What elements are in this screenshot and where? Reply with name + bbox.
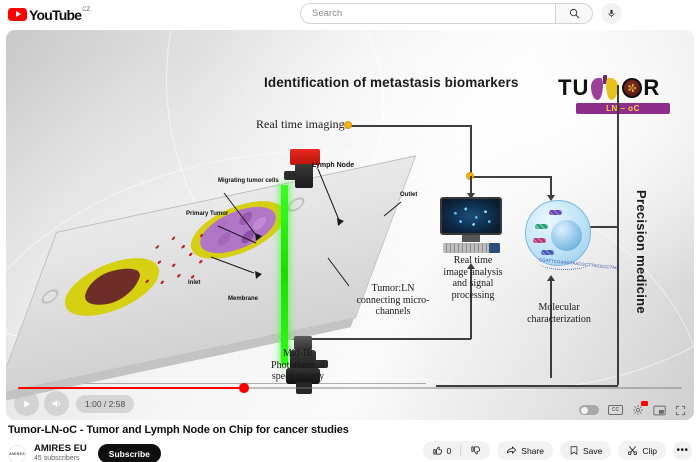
youtube-logo-country: CZ <box>82 7 90 13</box>
subtitles-button[interactable]: CC <box>608 405 623 415</box>
cell-illustration: CGATTCGAAGTAACGCTTAGGCCTAG <box>525 200 591 266</box>
fullscreen-icon <box>675 405 686 416</box>
video-frame: Identification of metastasis biomarkers … <box>6 30 694 420</box>
label-outlet: Outlet <box>400 192 417 198</box>
computer-monitor-icon <box>440 197 502 253</box>
share-icon <box>506 445 517 456</box>
microfluidic-chip-illustration <box>26 170 426 370</box>
connector-line <box>470 125 472 173</box>
label-migrating-tumor-cells: Migrating tumor cells <box>218 178 279 184</box>
label-primary-tumor: Primary Tumor <box>186 211 228 217</box>
youtube-logo-text: YouTube <box>29 7 81 23</box>
channel-name[interactable]: AMIRES EU <box>34 443 87 454</box>
search-area <box>300 3 622 24</box>
laser-beam <box>281 185 288 365</box>
logo-letters-right: R <box>643 75 660 101</box>
chip-base <box>6 155 416 394</box>
share-label: Share <box>521 446 544 456</box>
youtube-logo[interactable]: YouTube CZ <box>8 6 90 23</box>
connector-line <box>550 280 552 378</box>
label-image-analysis: Real time image analysis and signal proc… <box>431 255 515 301</box>
subscribe-button[interactable]: Subscribe <box>98 444 161 462</box>
youtube-watch-page: YouTube CZ <box>0 0 700 462</box>
miniplayer-icon <box>653 405 666 416</box>
channel-row: AMIRES AMIRES EU 45 subscribers Subscrib… <box>8 443 692 462</box>
channel-info: AMIRES EU 45 subscribers <box>34 443 87 462</box>
search-icon <box>569 8 580 19</box>
precision-medicine-label: Precision medicine <box>634 190 649 314</box>
microphone-icon <box>607 8 616 19</box>
like-count: 0 <box>447 446 452 456</box>
miniplayer-button[interactable] <box>653 405 666 416</box>
volume-icon <box>51 398 62 409</box>
connector-dot <box>344 121 352 129</box>
save-label: Save <box>583 446 602 456</box>
channel-avatar[interactable]: AMIRES <box>8 445 26 462</box>
clip-button[interactable]: Clip <box>618 441 666 460</box>
camera-arm <box>284 171 298 180</box>
play-icon <box>22 399 31 409</box>
connector-line <box>617 85 619 385</box>
settings-new-badge <box>641 401 648 406</box>
connector-line <box>470 176 550 178</box>
action-buttons: 0 Share <box>423 441 692 460</box>
label-inlet: Inlet <box>188 280 200 286</box>
bookmark-icon <box>569 445 579 456</box>
save-button[interactable]: Save <box>560 441 611 460</box>
label-real-time-imaging: Real time imaging <box>256 118 345 132</box>
progress-knob[interactable] <box>239 383 249 393</box>
thumbs-down-icon <box>470 445 481 456</box>
youtube-play-icon <box>8 8 27 22</box>
cell-circle-icon <box>622 78 642 98</box>
fullscreen-button[interactable] <box>675 405 686 416</box>
search-button[interactable] <box>555 3 593 24</box>
more-actions-button[interactable]: ••• <box>673 441 692 460</box>
like-button[interactable]: 0 <box>423 441 461 460</box>
video-title: Tumor-LN-oC - Tumor and Lymph Node on Ch… <box>8 424 692 436</box>
label-lymph-node: Lymph Node <box>312 162 354 169</box>
video-player[interactable]: Identification of metastasis biomarkers … <box>6 30 694 420</box>
like-dislike-group: 0 <box>423 441 491 460</box>
cc-icon: CC <box>608 405 623 415</box>
project-logo: TU R LN – oC <box>558 74 690 114</box>
thumbs-up-icon <box>432 445 443 456</box>
slide-title: Identification of metastasis biomarkers <box>264 75 518 90</box>
settings-button[interactable] <box>632 404 644 416</box>
label-membrane: Membrane <box>228 296 258 302</box>
volume-button[interactable] <box>44 391 69 416</box>
video-meta: Tumor-LN-oC - Tumor and Lymph Node on Ch… <box>8 424 692 462</box>
voice-search-button[interactable] <box>601 3 622 24</box>
arrow-head <box>547 275 555 281</box>
time-display: 1:00 / 2:58 <box>76 395 134 413</box>
play-button[interactable] <box>14 391 39 416</box>
share-button[interactable]: Share <box>497 441 553 460</box>
controls-right: CC <box>579 404 686 416</box>
logo-subtitle: LN – oC <box>576 103 670 114</box>
scissors-icon <box>627 445 638 456</box>
lungs-icon <box>590 75 620 102</box>
dislike-button[interactable] <box>461 441 490 460</box>
progress-bar[interactable] <box>18 387 682 390</box>
clip-label: Clip <box>642 446 657 456</box>
progress-played <box>18 387 244 390</box>
logo-letters-left: TU <box>558 75 589 101</box>
controls-left: 1:00 / 2:58 <box>14 391 134 416</box>
connector-line <box>350 125 472 127</box>
youtube-header: YouTube CZ <box>0 0 700 28</box>
subscriber-count: 45 subscribers <box>34 454 87 462</box>
avatar-text: AMIRES <box>9 452 25 456</box>
search-input[interactable] <box>312 8 555 19</box>
label-microchannels: Tumor:LN connecting micro- channels <box>347 283 439 318</box>
search-box[interactable] <box>300 3 555 24</box>
label-molecular-characterization: Molecular characterization <box>514 302 604 325</box>
autoplay-toggle[interactable] <box>579 405 599 415</box>
player-controls: 1:00 / 2:58 CC <box>6 378 694 420</box>
